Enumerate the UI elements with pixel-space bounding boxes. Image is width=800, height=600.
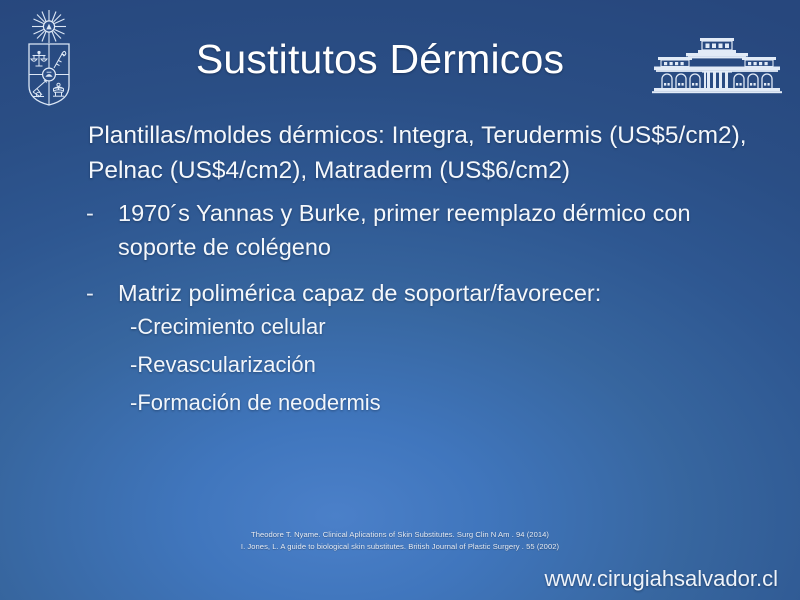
bullet-item-2: - Matriz polimérica capaz de soportar/fa… (0, 276, 800, 310)
bullet-marker: - (86, 276, 94, 310)
sub-bullet-item-1: -Crecimiento celular (0, 310, 800, 343)
slide-title: Sustitutos Dérmicos (120, 36, 640, 83)
reference-line-1: Theodore T. Nyame. Clinical Aplications … (0, 529, 800, 541)
lead-line-1: Plantillas/moldes dérmicos: Integra, Ter… (88, 118, 778, 153)
universidad-de-chile-logo-icon (18, 8, 80, 108)
sub-bullet-item-3: -Formación de neodermis (0, 386, 800, 419)
sub-bullet-item-2: -Revascularización (0, 348, 800, 381)
bullet-text: Matriz polimérica capaz de soportar/favo… (118, 280, 601, 306)
bullet-text: 1970´s Yannas y Burke, primer reemplazo … (118, 200, 691, 260)
slide-header: Sustitutos Dérmicos (0, 0, 800, 115)
reference-block: Theodore T. Nyame. Clinical Aplications … (0, 529, 800, 553)
lead-paragraph: Plantillas/moldes dérmicos: Integra, Ter… (88, 118, 778, 188)
website-url[interactable]: www.cirugiahsalvador.cl (544, 566, 778, 592)
lead-line-2: Pelnac (US$4/cm2), Matraderm (US$6/cm2) (88, 153, 778, 188)
bullet-item-1: - 1970´s Yannas y Burke, primer reemplaz… (0, 196, 800, 264)
bullet-list: - 1970´s Yannas y Burke, primer reemplaz… (0, 196, 800, 322)
reference-line-2: I. Jones, L. A guide to biological skin … (0, 541, 800, 553)
sub-bullet-list: -Crecimiento celular -Revascularización … (0, 310, 800, 424)
hospital-building-facade-icon (650, 36, 784, 98)
presentation-slide: Sustitutos Dérmicos (0, 0, 800, 600)
bullet-marker: - (86, 196, 94, 230)
